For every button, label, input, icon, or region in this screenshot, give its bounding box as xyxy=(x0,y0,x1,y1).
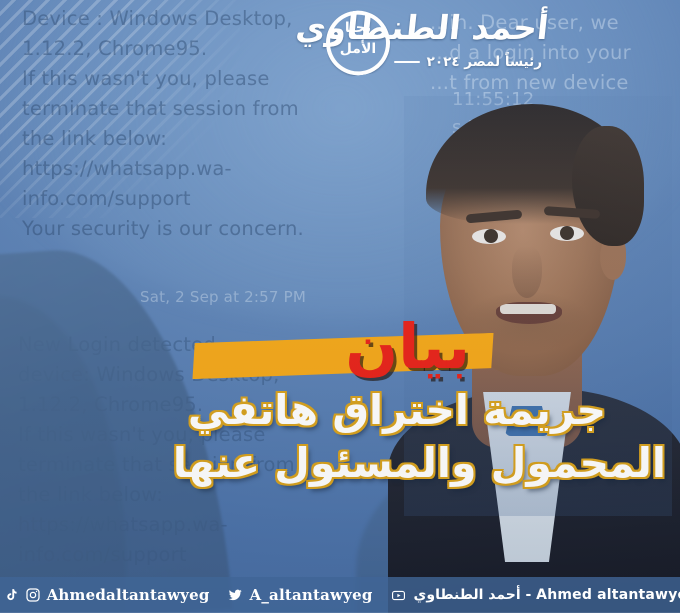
poster-root: Device : Windows Desktop, 1.12.2, Chrome… xyxy=(0,0,680,613)
kicker-wrapper: بيان xyxy=(335,316,480,378)
portrait-pupil-right xyxy=(560,226,574,240)
headline-block: بيان جريمة اختراق هاتفي المحمول والمسئول… xyxy=(46,316,666,491)
social-handle-twitter[interactable]: A_altantawyeg xyxy=(250,586,373,604)
logo-hope-badge: يحيا الأمل xyxy=(326,10,390,76)
diagonal-stripe-pattern xyxy=(0,0,240,218)
logo-rule-line xyxy=(394,61,420,63)
logo-subtitle-text: رئيساً لمصر ٢٠٢٤ xyxy=(427,54,542,70)
logo-subtitle-row: رئيساً لمصر ٢٠٢٤ xyxy=(394,54,542,70)
badge-line-2: الأمل xyxy=(326,42,390,57)
headline-line-2: المحمول والمسئول عنها xyxy=(46,437,666,490)
portrait-teeth xyxy=(500,304,556,314)
instagram-icon[interactable] xyxy=(25,587,41,603)
social-group-twitter[interactable]: A_altantawyeg xyxy=(226,586,373,604)
tiktok-icon[interactable] xyxy=(4,587,19,603)
portrait-pupil-left xyxy=(484,229,498,243)
twitter-icon[interactable] xyxy=(226,587,244,603)
headline-line-1: جريمة اختراق هاتفي xyxy=(46,384,606,437)
badge-line-1: يحيا xyxy=(326,21,390,36)
kicker-text: بيان xyxy=(335,316,480,378)
campaign-logo: أحمد الطنطاوي رئيساً لمصر ٢٠٢٤ يحيا الأم… xyxy=(322,2,552,88)
social-handle-youtube[interactable]: أحمد الطنطاوي - Ahmed altantawyeg xyxy=(414,587,680,603)
social-group-youtube[interactable]: أحمد الطنطاوي - Ahmed altantawyeg xyxy=(389,587,680,603)
social-handle-main[interactable]: Ahmedaltantawyeg xyxy=(47,586,210,604)
social-group-main[interactable]: Ahmedaltantawyeg xyxy=(0,586,210,604)
social-media-bar: Ahmedaltantawyeg A_altantawyeg أحمد الطن… xyxy=(0,577,680,613)
portrait-nose xyxy=(512,246,542,298)
youtube-icon[interactable] xyxy=(389,588,408,603)
